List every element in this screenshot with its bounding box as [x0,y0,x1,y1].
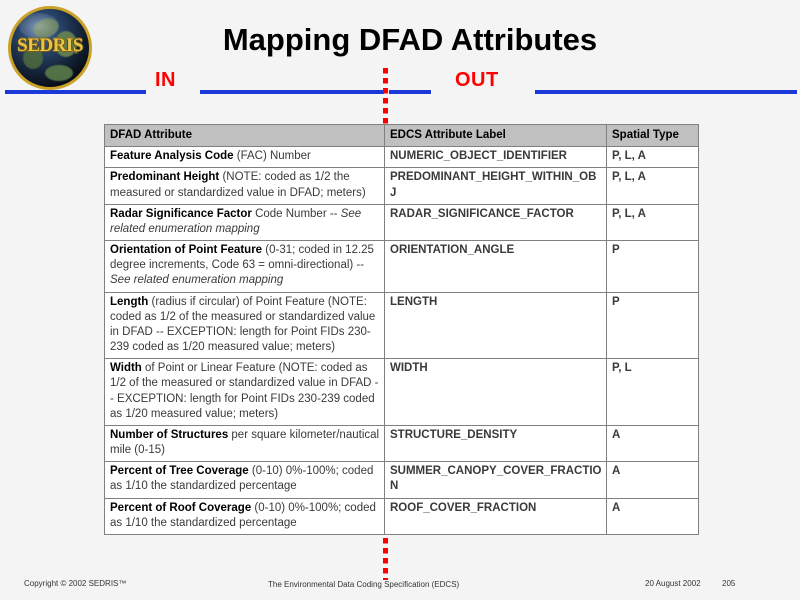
dfad-attribute-name: Width [110,362,142,374]
rule-segment-out-left [389,90,431,94]
dfad-attribute-name: Orientation of Point Feature [110,244,262,256]
footer-copyright: Copyright © 2002 SEDRIS™ [24,579,126,588]
dfad-attribute-name: Percent of Tree Coverage [110,465,249,477]
cell-spatial-type: A [607,462,699,498]
cell-edcs-attribute-label: ORIENTATION_ANGLE [385,241,607,293]
cell-spatial-type: A [607,498,699,534]
cell-edcs-attribute-label: STRUCTURE_DENSITY [385,425,607,461]
table-row: Radar Significance Factor Code Number --… [105,204,699,240]
table-row: Number of Structures per square kilomete… [105,425,699,461]
dfad-attribute-note: of Point or Linear Feature (NOTE: coded … [110,362,378,420]
cell-dfad-attribute: Number of Structures per square kilomete… [105,425,385,461]
table-row: Feature Analysis Code (FAC) NumberNUMERI… [105,147,699,168]
cell-spatial-type: P [607,241,699,293]
cell-spatial-type: P, L, A [607,168,699,204]
dfad-attribute-name: Percent of Roof Coverage [110,502,251,514]
cell-spatial-type: P, L [607,359,699,426]
mapping-table-container: DFAD Attribute EDCS Attribute Label Spat… [104,124,698,535]
logo-trademark: ® [74,50,79,56]
cell-spatial-type: P, L, A [607,147,699,168]
logo-wordmark: SEDRIS [8,36,92,55]
cell-dfad-attribute: Predominant Height (NOTE: coded as 1/2 t… [105,168,385,204]
footer-date: 20 August 2002 [645,579,701,588]
cell-edcs-attribute-label: LENGTH [385,292,607,359]
cell-dfad-attribute: Radar Significance Factor Code Number --… [105,204,385,240]
cell-edcs-attribute-label: WIDTH [385,359,607,426]
cell-spatial-type: P [607,292,699,359]
cell-dfad-attribute: Width of Point or Linear Feature (NOTE: … [105,359,385,426]
table-row: Percent of Tree Coverage (0-10) 0%-100%;… [105,462,699,498]
cell-dfad-attribute: Orientation of Point Feature (0-31; code… [105,241,385,293]
cell-spatial-type: P, L, A [607,204,699,240]
dfad-attribute-name: Radar Significance Factor [110,208,252,220]
cell-edcs-attribute-label: NUMERIC_OBJECT_IDENTIFIER [385,147,607,168]
slide-footer: Copyright © 2002 SEDRIS™ The Environment… [0,578,800,600]
table-row: Orientation of Point Feature (0-31; code… [105,241,699,293]
page-title: Mapping DFAD Attributes [100,22,720,58]
dfad-attribute-note: (radius if circular) of Point Feature (N… [110,296,375,354]
table-row: Percent of Roof Coverage (0-10) 0%-100%;… [105,498,699,534]
cell-edcs-attribute-label: SUMMER_CANOPY_COVER_FRACTION [385,462,607,498]
dfad-attribute-note: (FAC) Number [234,150,311,162]
rule-segment-right [535,90,797,94]
rule-segment-left [5,90,146,94]
mapping-table-body: Feature Analysis Code (FAC) NumberNUMERI… [105,147,699,535]
cell-spatial-type: A [607,425,699,461]
out-label: OUT [455,69,499,92]
footer-page-number: 205 [722,579,735,588]
table-row: Length (radius if circular) of Point Fea… [105,292,699,359]
column-header-dfad-attribute: DFAD Attribute [105,125,385,147]
in-label: IN [155,69,176,92]
in-out-band: IN OUT [0,64,800,102]
dfad-attribute-name: Feature Analysis Code [110,150,234,162]
cell-dfad-attribute: Percent of Tree Coverage (0-10) 0%-100%;… [105,462,385,498]
footer-document-title: The Environmental Data Coding Specificat… [268,580,459,589]
dfad-attribute-name: Length [110,296,148,308]
dfad-attribute-reference: See related enumeration mapping [110,274,283,286]
dfad-attribute-name: Number of Structures [110,429,228,441]
dfad-attribute-note: Code Number -- [252,208,341,220]
cell-edcs-attribute-label: PREDOMINANT_HEIGHT_WITHIN_OBJ [385,168,607,204]
rule-segment-in [200,90,384,94]
mapping-table: DFAD Attribute EDCS Attribute Label Spat… [104,124,699,535]
cell-dfad-attribute: Length (radius if circular) of Point Fea… [105,292,385,359]
dfad-attribute-name: Predominant Height [110,171,219,183]
cell-edcs-attribute-label: RADAR_SIGNIFICANCE_FACTOR [385,204,607,240]
column-header-edcs-attribute-label: EDCS Attribute Label [385,125,607,147]
cell-dfad-attribute: Percent of Roof Coverage (0-10) 0%-100%;… [105,498,385,534]
cell-dfad-attribute: Feature Analysis Code (FAC) Number [105,147,385,168]
column-header-spatial-type: Spatial Type [607,125,699,147]
table-row: Width of Point or Linear Feature (NOTE: … [105,359,699,426]
table-header-row: DFAD Attribute EDCS Attribute Label Spat… [105,125,699,147]
cell-edcs-attribute-label: ROOF_COVER_FRACTION [385,498,607,534]
table-row: Predominant Height (NOTE: coded as 1/2 t… [105,168,699,204]
